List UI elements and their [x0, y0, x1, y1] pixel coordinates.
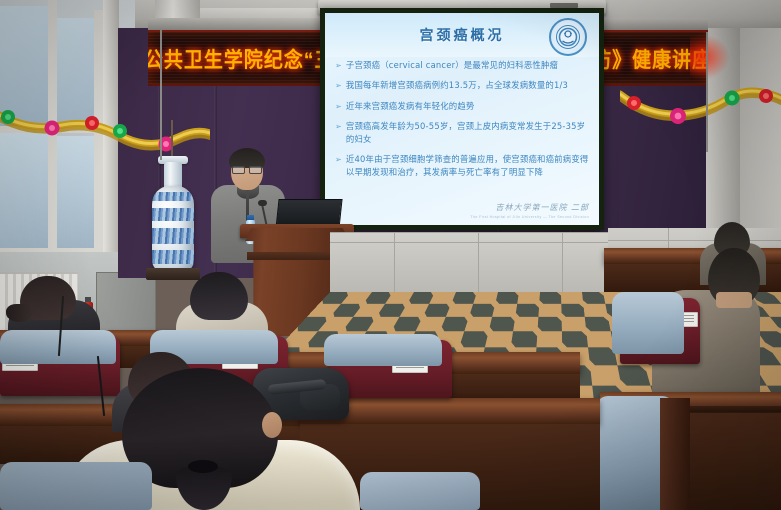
presentation-slide: 宫颈癌概况 ➢ 子宫颈癌（cervical cancer）是最常见的妇科恶性肿瘤… — [325, 13, 599, 225]
seat-cushion-right-front — [612, 292, 684, 354]
seat-cushion-bottom-left — [0, 462, 152, 510]
bullet-marker-icon: ➢ — [335, 120, 342, 133]
slide-bullet: ➢ 我国每年新增宫颈癌病例约13.5万，占全球发病数量的1/3 — [335, 79, 591, 92]
attendee-left-row2-ponytail — [6, 304, 32, 322]
slide-signature: 吉林大学第一医院 二部 The First Hospital of Jilin … — [470, 202, 589, 219]
banner-glow — [690, 34, 730, 80]
seat-cushion-center-row2-right — [324, 334, 442, 366]
seat-cushion-bottom-center — [360, 472, 480, 510]
vase-stand — [146, 268, 200, 280]
signature-english: The First Hospital of Jilin University —… — [470, 215, 589, 219]
attendee-front-center-hairtie — [188, 460, 218, 473]
slide-bullet: ➢ 近年来宫颈癌发病有年轻化的趋势 — [335, 100, 591, 113]
bullet-marker-icon: ➢ — [335, 59, 342, 72]
wall-pillar-far-right — [740, 28, 781, 258]
slide-bullet-list: ➢ 子宫颈癌（cervical cancer）是最常见的妇科恶性肿瘤 ➢ 我国每… — [335, 59, 591, 186]
attendee-center-row2-head — [190, 272, 248, 320]
bullet-text: 近年来宫颈癌发病有年轻化的趋势 — [346, 100, 591, 113]
back-wall-panels — [330, 232, 650, 294]
slide-bullet: ➢ 宫颈癌高发年龄为50-55岁，宫颈上皮内病变常发生于25-35岁的妇女 — [335, 120, 591, 146]
hanging-wire-right — [706, 32, 708, 152]
microphone-head-icon — [258, 200, 267, 206]
gold-tinsel-garland-left — [0, 95, 210, 155]
attendee-right-front-neck — [716, 292, 752, 308]
presenter-hair — [229, 148, 265, 168]
bullet-marker-icon: ➢ — [335, 100, 342, 113]
blue-and-white-porcelain-vase — [152, 186, 194, 272]
signature-chinese: 吉林大学第一医院 二部 — [470, 202, 589, 213]
bullet-marker-icon: ➢ — [335, 79, 342, 92]
seat-armrest-bottom-right — [660, 398, 690, 510]
slide-bullet: ➢ 子宫颈癌（cervical cancer）是最常见的妇科恶性肿瘤 — [335, 59, 591, 72]
university-seal-logo — [549, 18, 587, 56]
vase-branch — [171, 120, 173, 160]
bullet-text: 宫颈癌高发年龄为50-55岁，宫颈上皮内病变常发生于25-35岁的妇女 — [346, 120, 591, 146]
slide-bullet: ➢ 近40年由于宫颈细胞学筛查的普遍应用，使宫颈癌和癌前病变得以早期发现和治疗，… — [335, 153, 591, 179]
gold-tinsel-garland-right — [620, 80, 781, 140]
hanging-wire — [160, 30, 162, 160]
bullet-text: 我国每年新增宫颈癌病例约13.5万，占全球发病数量的1/3 — [346, 79, 591, 92]
presenter-glasses — [232, 166, 262, 172]
bullet-marker-icon: ➢ — [335, 153, 342, 166]
bullet-text: 近40年由于宫颈细胞学筛查的普遍应用，使宫颈癌和癌前病变得以早期发现和治疗，其发… — [346, 153, 591, 179]
wall-cabinet — [96, 272, 156, 332]
bullet-text: 子宫颈癌（cervical cancer）是最常见的妇科恶性肿瘤 — [346, 59, 591, 72]
attendee-front-center-ear — [262, 412, 282, 438]
lecture-hall-photo: 公共卫生学院纪念“三·八”妇女节《宫颈癌筛查与预防》健康讲座 宫颈癌概况 ➢ 子… — [0, 0, 781, 510]
